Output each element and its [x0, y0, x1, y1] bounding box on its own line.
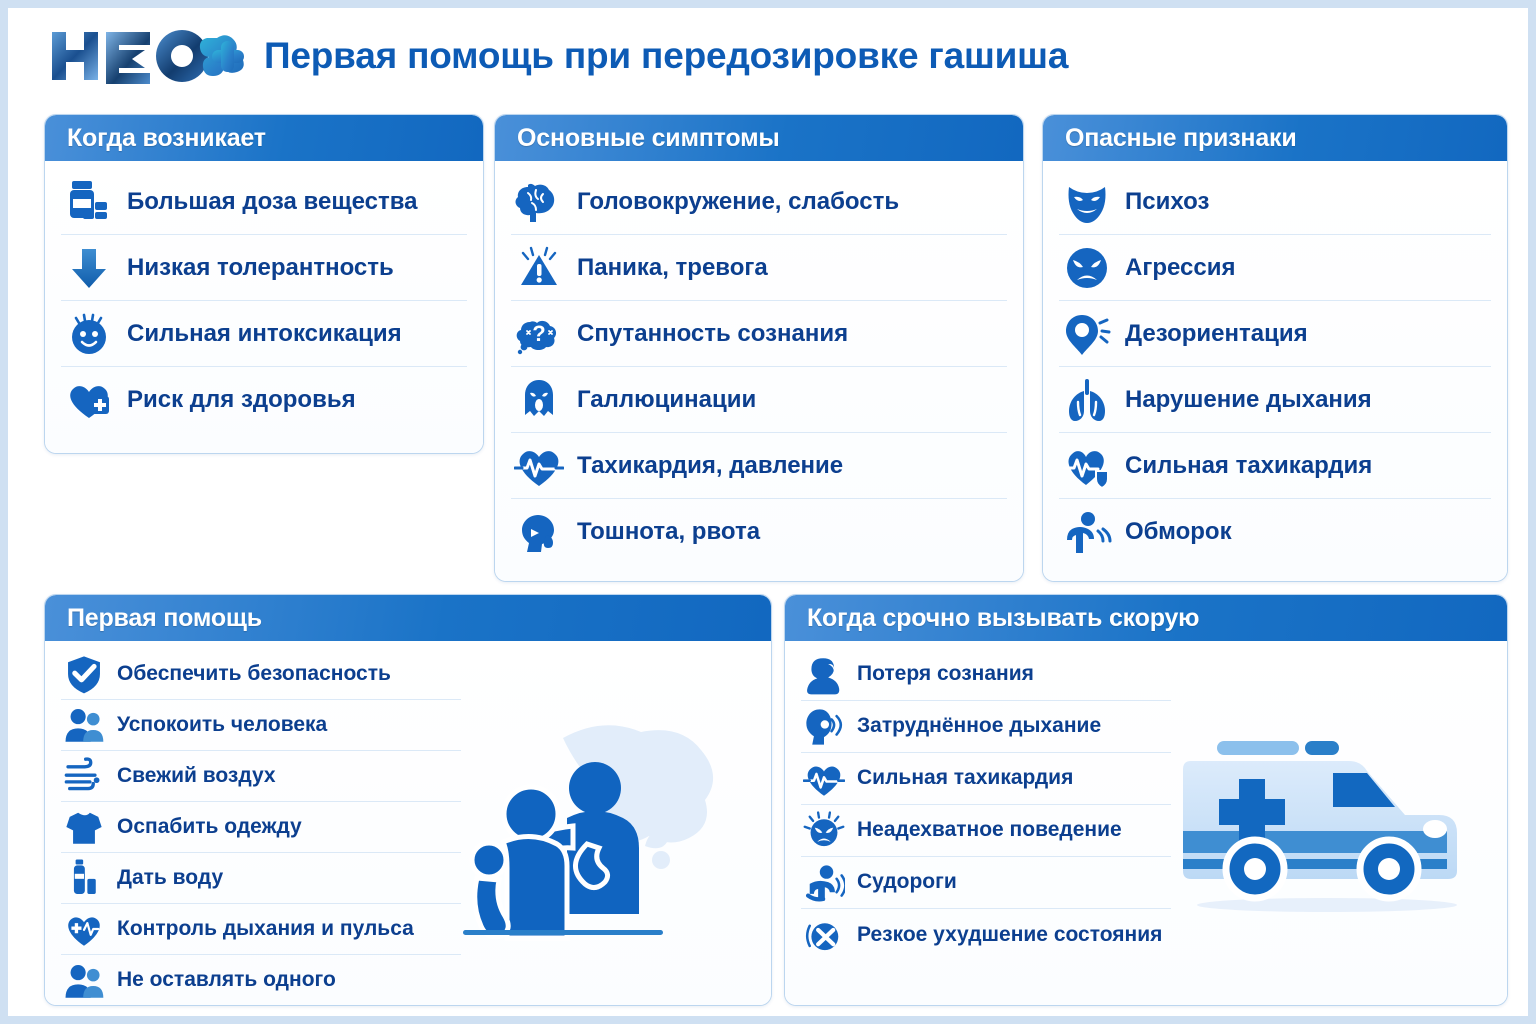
vomiting-icon [511, 504, 567, 560]
list-item[interactable]: Затруднённое дыхание [801, 701, 1171, 753]
list-item[interactable]: Тошнота, рвота [511, 499, 1007, 565]
list-item-label: Дать воду [117, 867, 223, 889]
page-title: Первая помощь при передозировке гашиша [264, 35, 1068, 77]
list-item[interactable]: Судороги [801, 857, 1171, 909]
list-item-label: Затруднённое дыхание [857, 715, 1101, 737]
list-item[interactable]: Сильная тахикардия [1059, 433, 1491, 499]
panel-symptoms: Основные симптомы Головокружение, слабос… [494, 114, 1024, 582]
list-item[interactable]: Большая доза вещества [61, 169, 467, 235]
panel-body-emergency: Потеря сознания Затруднённое дыхание [785, 641, 1507, 1005]
heart-cross-icon [61, 372, 117, 428]
wind-icon [61, 753, 107, 799]
panel-header-when: Когда возникает [45, 115, 483, 161]
dizzy-face-icon [61, 306, 117, 362]
panel-title-emergency: Когда срочно вызывать скорую [807, 604, 1199, 633]
list-item[interactable]: Резкое ухудшение состояния [801, 909, 1171, 961]
list-item-label: Резкое ухудшение состояния [857, 924, 1162, 946]
pill-bottle-icon [61, 174, 117, 230]
infographic-root: Первая помощь при передозировке гашиша К… [0, 0, 1536, 1024]
tshirt-icon [61, 804, 107, 850]
list-item-label: Паника, тревога [577, 255, 768, 280]
list-item[interactable]: Низкая толерантность [61, 235, 467, 301]
panel-danger: Опасные признаки Психоз [1042, 114, 1508, 582]
list-item[interactable]: Дать воду [61, 853, 461, 904]
list-item-label: Обморок [1125, 519, 1232, 544]
list-item-label: Потеря сознания [857, 663, 1034, 685]
heart-shield-pulse-icon [1059, 438, 1115, 494]
water-bottle-icon [61, 855, 107, 901]
panel-body-firstaid: Обеспечить безопасность Успокоить челове… [45, 641, 771, 1006]
two-people-supporting-illustration [463, 718, 753, 968]
list-item-label: Не оставлять одного [117, 969, 336, 991]
list-item-label: Судороги [857, 871, 957, 893]
list-item-label: Галлюцинации [577, 387, 756, 412]
list-item[interactable]: Обморок [1059, 499, 1491, 565]
list-item[interactable]: Потеря сознания [801, 649, 1171, 701]
list-item-label: Дезориентация [1125, 321, 1308, 346]
infographic-page: Первая помощь при передозировке гашиша К… [8, 8, 1528, 1016]
list-item-label: Головокружение, слабость [577, 189, 899, 214]
panel-when: Когда возникает Большая до [44, 114, 484, 454]
list-item[interactable]: Риск для здоровья [61, 367, 467, 433]
panel-header-firstaid: Первая помощь [45, 595, 771, 641]
panel-header-symptoms: Основные симптомы [495, 115, 1023, 161]
down-arrow-icon [61, 240, 117, 296]
question-cloud-icon: ? [511, 306, 567, 362]
list-item-label: Тошнота, рвота [577, 519, 760, 544]
list-item[interactable]: Психоз [1059, 169, 1491, 235]
list-item-label: Успокоить человека [117, 714, 327, 736]
list-item-label: Сильная тахикардия [1125, 453, 1372, 478]
heart-monitor-icon [61, 906, 107, 952]
list-item[interactable]: Паника, тревога [511, 235, 1007, 301]
list-item[interactable]: Дезориентация [1059, 301, 1491, 367]
list-item-label: Большая доза вещества [127, 189, 418, 214]
list-item-label: Низкая толерантность [127, 255, 394, 280]
disoriented-head-icon [1059, 306, 1115, 362]
list-item-label: Свежий воздух [117, 765, 276, 787]
list-item-label: Нарушение дыхания [1125, 387, 1372, 412]
two-people-icon [61, 958, 107, 1004]
agitated-face-icon [801, 808, 847, 854]
list-item[interactable]: Не оставлять одного [61, 955, 461, 1006]
list-item-label: Тахикардия, давление [577, 453, 843, 478]
neo-plus-logo [48, 28, 244, 84]
panel-title-when: Когда возникает [67, 124, 266, 153]
ghost-icon [511, 372, 567, 428]
list-item[interactable]: Сильная тахикардия [801, 753, 1171, 805]
panel-header-emergency: Когда срочно вызывать скорую [785, 595, 1507, 641]
panel-title-symptoms: Основные симптомы [517, 124, 780, 153]
list-item[interactable]: Успокоить человека [61, 700, 461, 751]
fainting-person-icon [1059, 504, 1115, 560]
panel-emergency: Когда срочно вызывать скорую [784, 594, 1508, 1006]
list-item[interactable]: Оспабить одежду [61, 802, 461, 853]
list-item[interactable]: Агрессия [1059, 235, 1491, 301]
list-item[interactable]: Головокружение, слабость [511, 169, 1007, 235]
list-item[interactable]: Неадехватное поведение [801, 805, 1171, 857]
lungs-icon [1059, 372, 1115, 428]
two-people-icon [61, 702, 107, 748]
evil-mask-icon [1059, 174, 1115, 230]
warning-triangle-icon [511, 240, 567, 296]
brain-icon [511, 174, 567, 230]
svg-text:?: ? [532, 321, 545, 346]
ambulance-illustration [1177, 733, 1477, 923]
breathing-difficulty-icon [801, 704, 847, 750]
list-item[interactable]: Тахикардия, давление [511, 433, 1007, 499]
list-item[interactable]: Контроль дыхания и пульса [61, 904, 461, 955]
panel-title-firstaid: Первая помощь [67, 604, 262, 633]
list-item-label: Обеспечить безопасность [117, 663, 391, 685]
list-item-label: Сильная интоксикация [127, 321, 402, 346]
list-item-label: Риск для здоровья [127, 387, 356, 412]
list-item[interactable]: Сильная интоксикация [61, 301, 467, 367]
page-header: Первая помощь при передозировке гашиша [48, 20, 1068, 92]
panel-firstaid: Первая помощь [44, 594, 772, 1006]
list-item[interactable]: Галлюцинации [511, 367, 1007, 433]
list-item[interactable]: Нарушение дыхания [1059, 367, 1491, 433]
list-item-label: Сильная тахикардия [857, 767, 1073, 789]
list-item[interactable]: Обеспечить безопасность [61, 649, 461, 700]
list-item-label: Оспабить одежду [117, 816, 302, 838]
list-item-label: Неадехватное поведение [857, 819, 1122, 841]
declining-state-icon [801, 912, 847, 958]
seizure-person-icon [801, 860, 847, 906]
panel-title-danger: Опасные признаки [1065, 124, 1297, 153]
list-item-label: Психоз [1125, 189, 1209, 214]
shield-check-icon [61, 651, 107, 697]
list-item[interactable]: ? Спутанность сознания [511, 301, 1007, 367]
list-item-label: Спутанность сознания [577, 321, 848, 346]
panel-body-when: Большая доза вещества Низкая толерантнос… [45, 161, 483, 453]
list-item-label: Контроль дыхания и пульса [117, 918, 414, 940]
panel-body-symptoms: Головокружение, слабость Паника, тревога [495, 161, 1023, 581]
heart-pulse-icon [511, 438, 567, 494]
angry-face-icon [1059, 240, 1115, 296]
list-item-label: Агрессия [1125, 255, 1235, 280]
list-item[interactable]: Свежий воздух [61, 751, 461, 802]
heart-pulse-icon [801, 756, 847, 802]
panel-header-danger: Опасные признаки [1043, 115, 1507, 161]
unconscious-person-icon [801, 652, 847, 698]
panel-body-danger: Психоз Агрессия [1043, 161, 1507, 581]
